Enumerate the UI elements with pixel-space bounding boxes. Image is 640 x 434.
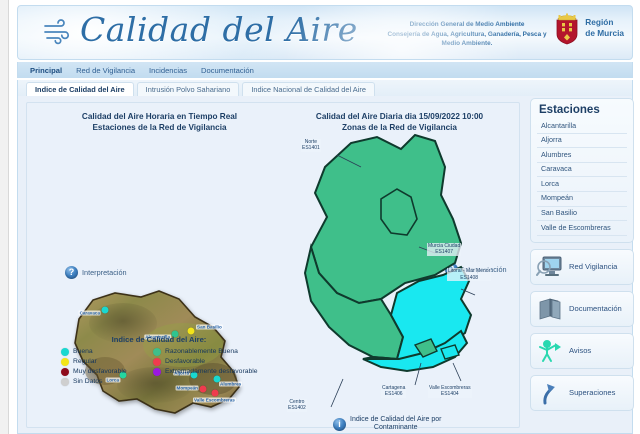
- main-navigation: Principal Red de Vigilancia Incidencias …: [17, 62, 633, 78]
- sidebar-station-aljorra[interactable]: Aljorra: [537, 134, 627, 149]
- region-logo: Región de Murcia: [554, 11, 624, 45]
- coat-of-arms-icon: [554, 11, 580, 45]
- tab-intrusion-polvo-sahariano[interactable]: Intrusión Polvo Sahariano: [137, 82, 240, 96]
- arrow-up-icon: [536, 380, 564, 406]
- nav-item-red-de-vigilancia[interactable]: Red de Vigilancia: [76, 66, 135, 75]
- tab-strip: Indice de Calidad del Aire Intrusión Pol…: [17, 80, 633, 96]
- daily-zones-map[interactable]: NorteES1401 CentroES1402 Valle Escombrer…: [285, 123, 517, 423]
- left-map-title: Calidad del Aire Horaria en Tiempo Real …: [37, 111, 282, 133]
- interpretation-label-left: Interpretación: [82, 268, 127, 277]
- nav-item-documentacion[interactable]: Documentación: [201, 66, 254, 75]
- region-line-2: de Murcia: [585, 28, 624, 39]
- zone-label-litoral-mar-menor: Litoral - Mar MenorES1408: [447, 268, 491, 281]
- legend-item-regular: Regular: [61, 358, 149, 366]
- books-icon: [536, 296, 564, 322]
- contaminant-index-label: Indice de Calidad del Aire porContaminan…: [350, 416, 441, 433]
- wind-icon: [42, 19, 72, 47]
- legend-dot-razonablemente-buena: [153, 348, 161, 356]
- site-header: Calidad del Aire Dirección General de Me…: [17, 5, 633, 60]
- department-text: Dirección General de Medio Ambiente Cons…: [376, 20, 558, 49]
- zone-label-valle-escombreras: Valle EscombrerasES1404: [428, 385, 472, 398]
- legend-label-desfavorable: Desfavorable: [165, 358, 205, 366]
- station-marker-valle-escombreras[interactable]: [212, 390, 219, 397]
- department-line-3: Medio Ambiente.: [376, 39, 558, 49]
- station-label-mompean: Mompeán: [176, 386, 199, 391]
- legend-items: Buena Razonablemente Buena Regular Desfa…: [39, 348, 279, 386]
- page-frame: Calidad del Aire Dirección General de Me…: [8, 0, 640, 434]
- sidebar-button-label-red-vigilancia: Red Vigilancia: [569, 262, 617, 271]
- sidebar-station-alcantarilla[interactable]: Alcantarilla: [537, 119, 627, 134]
- right-map-title-line-1: Calidad del Aire Diaria dia 15/09/2022 1…: [282, 111, 517, 122]
- legend-dot-buena: [61, 348, 69, 356]
- question-icon: ?: [65, 266, 78, 279]
- region-line-1: Región: [585, 17, 624, 28]
- legend-item-razonablemente-buena: Razonablemente Buena: [153, 348, 265, 356]
- legend-item-buena: Buena: [61, 348, 149, 356]
- contaminant-index-link[interactable]: i Indice de Calidad del Aire porContamin…: [333, 416, 441, 433]
- sidebar-button-avisos[interactable]: Avisos: [530, 333, 634, 369]
- left-map-title-line-2: Estaciones de la Red de Vigilancia: [37, 122, 282, 133]
- legend-dot-desfavorable: [153, 358, 161, 366]
- zone-label-cartagena: CartagenaES1406: [381, 385, 406, 398]
- content-area: Calidad del Aire Horaria en Tiempo Real …: [17, 96, 633, 434]
- sidebar-station-san-basilio[interactable]: San Basilio: [537, 207, 627, 222]
- region-label: Región de Murcia: [585, 17, 624, 39]
- legend-title: Indice de Calidad del Aire:: [39, 335, 279, 344]
- station-label-san-basilio: San Basilio: [196, 325, 223, 330]
- legend-dot-extremadamente-desfavorable: [153, 368, 161, 376]
- legend-label-muy-desfavorable: Muy desfavorable: [73, 368, 127, 376]
- legend-dot-sin-datos: [61, 378, 69, 386]
- sidebar-button-label-superaciones: Superaciones: [569, 388, 615, 397]
- legend-label-extremadamente-desfavorable: Extremadamente desfavorable: [165, 368, 258, 376]
- legend-item-extremadamente-desfavorable: Extremadamente desfavorable: [153, 368, 265, 376]
- interpretation-link-left[interactable]: ? Interpretación: [65, 266, 127, 279]
- zone-label-norte: NorteES1401: [301, 139, 321, 152]
- station-label-valle-escombreras: Valle Escombreras: [193, 398, 236, 403]
- sidebar-button-red-vigilancia[interactable]: Red Vigilancia: [530, 249, 634, 285]
- nav-item-incidencias[interactable]: Incidencias: [149, 66, 187, 75]
- air-quality-legend: Indice de Calidad del Aire: Buena Razona…: [39, 335, 279, 386]
- sidebar-button-documentacion[interactable]: Documentación: [530, 291, 634, 327]
- legend-item-desfavorable: Desfavorable: [153, 358, 265, 366]
- sidebar-station-mompean[interactable]: Mompeán: [537, 192, 627, 207]
- legend-label-regular: Regular: [73, 358, 97, 366]
- legend-label-sin-datos: Sin Datos: [73, 378, 102, 386]
- info-icon: i: [333, 418, 346, 431]
- station-marker-san-basilio[interactable]: [188, 328, 195, 335]
- sidebar-station-valle-de-escombreras[interactable]: Valle de Escombreras: [537, 221, 627, 236]
- station-marker-mompean[interactable]: [200, 386, 207, 393]
- station-label-caravaca: Caravaca: [79, 311, 101, 316]
- stations-list-title: Estaciones: [539, 104, 627, 116]
- zone-label-murcia-ciudad: Murcia CiudadES1407: [427, 243, 461, 256]
- application-window: Calidad del Aire Dirección General de Me…: [0, 0, 640, 434]
- sidebar-station-lorca[interactable]: Lorca: [537, 177, 627, 192]
- sidebar-button-label-avisos: Avisos: [569, 346, 591, 355]
- stations-list-box: Estaciones Alcantarilla Aljorra Alumbres…: [530, 98, 634, 243]
- legend-item-sin-datos: Sin Datos: [61, 378, 149, 386]
- page-title: Calidad del Aire: [80, 10, 358, 49]
- sidebar-button-superaciones[interactable]: Superaciones: [530, 375, 634, 411]
- legend-dot-muy-desfavorable: [61, 368, 69, 376]
- department-line-2: Consejería de Agua, Agricultura, Ganader…: [376, 30, 558, 40]
- zone-label-centro: CentroES1402: [287, 399, 307, 412]
- alert-person-icon: [536, 338, 564, 364]
- sidebar-station-alumbres[interactable]: Alumbres: [537, 148, 627, 163]
- left-map-title-line-1: Calidad del Aire Horaria en Tiempo Real: [37, 111, 282, 122]
- sidebar-station-caravaca[interactable]: Caravaca: [537, 163, 627, 178]
- right-sidebar: Estaciones Alcantarilla Aljorra Alumbres…: [530, 98, 634, 411]
- tab-indice-calidad-aire[interactable]: Indice de Calidad del Aire: [26, 82, 134, 96]
- nav-item-principal[interactable]: Principal: [30, 66, 62, 75]
- maps-panel: Calidad del Aire Horaria en Tiempo Real …: [26, 102, 520, 428]
- station-marker-caravaca[interactable]: [102, 307, 109, 314]
- legend-label-razonablemente-buena: Razonablemente Buena: [165, 348, 238, 356]
- legend-item-muy-desfavorable: Muy desfavorable: [61, 368, 149, 376]
- legend-dot-regular: [61, 358, 69, 366]
- legend-label-buena: Buena: [73, 348, 93, 356]
- department-line-1: Dirección General de Medio Ambiente: [376, 20, 558, 30]
- sidebar-button-label-documentacion: Documentación: [569, 304, 622, 313]
- monitor-icon: [536, 254, 564, 280]
- tab-indice-nacional[interactable]: Indice Nacional de Calidad del Aire: [242, 82, 375, 96]
